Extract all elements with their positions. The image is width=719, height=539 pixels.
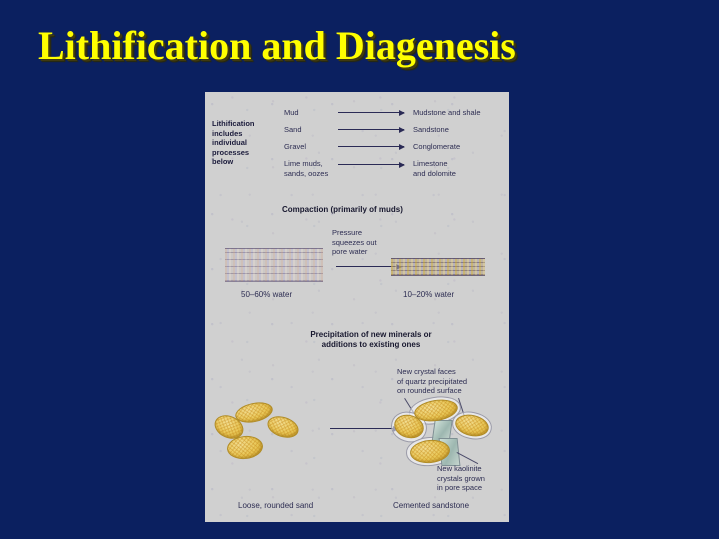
arrow-cementation [330,428,398,429]
uncompacted-mud-block [225,248,323,282]
kaolinite-annotation: New kaolinite crystals grown in pore spa… [437,464,485,493]
sediment-label-sand: Sand [284,125,302,135]
lithification-diagram-figure: Lithification includes individual proces… [205,92,509,522]
lithification-intro-label: Lithification includes individual proces… [212,119,274,167]
compaction-left-caption: 50–60% water [241,290,292,300]
arrow-sand-to-sandstone [338,129,404,130]
sediment-label-lime-muds: Lime muds, sands, oozes [284,159,328,178]
sediment-label-mud: Mud [284,108,299,118]
compaction-heading: Compaction (primarily of muds) [282,205,403,215]
rock-label-sandstone: Sandstone [413,125,449,135]
rock-label-limestone-and-dolomite: Limestone and dolomite [413,159,456,178]
rock-label-mudstone-and-shale: Mudstone and shale [413,108,481,118]
arrow-mud-to-mudstone [338,112,404,113]
compacted-mud-block [391,258,485,276]
quartz-overgrowth-annotation: New crystal faces of quartz precipitated… [397,367,467,396]
precipitation-right-caption: Cemented sandstone [393,501,469,511]
precipitation-left-caption: Loose, rounded sand [238,501,313,511]
arrow-lime-to-limestone [338,164,404,165]
slide-canvas: Lithification and Diagenesis Lithificati… [0,0,719,539]
rock-label-conglomerate: Conglomerate [413,142,460,152]
loose-grain-3 [265,413,302,442]
compaction-process-label: Pressure squeezes out pore water [332,228,377,257]
arrow-gravel-to-conglomerate [338,146,404,147]
sediment-label-gravel: Gravel [284,142,306,152]
page-title: Lithification and Diagenesis [38,24,516,68]
precipitation-heading: Precipitation of new minerals or additio… [281,330,461,349]
compaction-right-caption: 10–20% water [403,290,454,300]
